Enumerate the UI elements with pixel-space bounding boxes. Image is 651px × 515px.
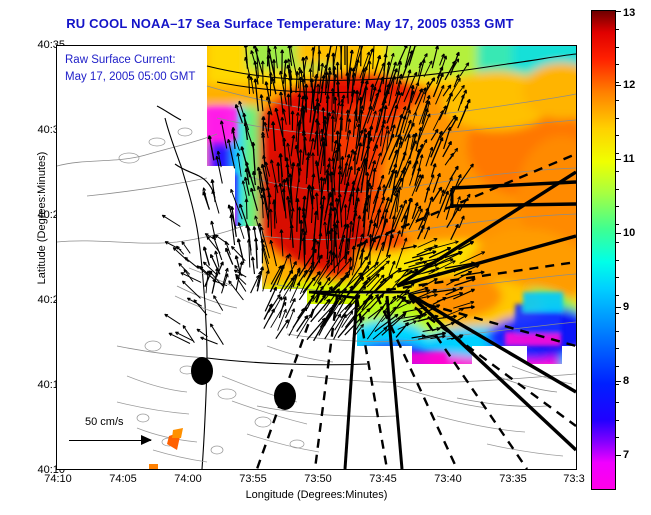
sst-map-canvas	[57, 46, 576, 469]
colorbar-minor-tick	[616, 153, 619, 154]
colorbar-label-4: 9	[623, 301, 629, 313]
colorbar-minor-tick	[616, 420, 619, 421]
x-axis-label: Longitude (Degrees:Minutes)	[56, 489, 577, 501]
velocity-scale-bar: 50 cm/s	[63, 416, 193, 447]
colorbar-minor-tick	[616, 171, 619, 172]
colorbar-tick	[616, 307, 621, 308]
x-tick-label-3: 73:55	[239, 473, 267, 485]
colorbar-label-1: 12	[623, 79, 635, 91]
colorbar-label-2: 11	[623, 153, 635, 165]
colorbar-label-6: 7	[623, 449, 629, 461]
y-axis-label: Latitude (Degrees:Minutes)	[36, 128, 48, 308]
colorbar-minor-tick	[616, 206, 619, 207]
colorbar-minor-tick	[616, 242, 619, 243]
x-tick-label-1: 74:05	[109, 473, 137, 485]
colorbar-minor-tick	[616, 260, 619, 261]
temperature-colorbar[interactable]	[591, 10, 616, 490]
colorbar-minor-tick	[616, 100, 619, 101]
colorbar-tick	[616, 233, 621, 234]
scale-bar-label: 50 cm/s	[85, 416, 193, 428]
colorbar-minor-tick	[616, 189, 619, 190]
colorbar-label-3: 10	[623, 227, 635, 239]
colorbar-minor-tick	[616, 47, 619, 48]
colorbar-tick	[616, 381, 621, 382]
colorbar-tick	[616, 11, 621, 12]
colorbar-minor-tick	[616, 384, 619, 385]
station-marker-east[interactable]	[274, 382, 296, 410]
map-plot-area[interactable]: Raw Surface Current: May 17, 2005 05:00 …	[56, 45, 577, 470]
x-tick-label-4: 73:50	[304, 473, 332, 485]
x-tick-label-2: 74:00	[174, 473, 202, 485]
colorbar-minor-tick	[616, 402, 619, 403]
x-tick-label-5: 73:45	[369, 473, 397, 485]
colorbar-minor-tick	[616, 277, 619, 278]
colorbar-minor-tick	[616, 295, 619, 296]
colorbar-minor-tick	[616, 82, 619, 83]
colorbar-minor-tick	[616, 64, 619, 65]
station-marker-west[interactable]	[191, 357, 213, 385]
colorbar-tick	[616, 85, 621, 86]
colorbar-label-0: 13	[623, 7, 635, 19]
sst-map-figure: RU COOL NOAA–17 Sea Surface Temperature:…	[0, 0, 651, 515]
colorbar-label-5: 8	[623, 375, 629, 387]
arrow-right-icon	[63, 433, 193, 447]
x-tick-label-6: 73:40	[434, 473, 462, 485]
colorbar-minor-tick	[616, 437, 619, 438]
colorbar-tick	[616, 455, 621, 456]
colorbar-minor-tick	[616, 29, 619, 30]
colorbar-minor-tick	[616, 366, 619, 367]
colorbar-minor-tick	[616, 135, 619, 136]
x-tick-label-7: 73:35	[499, 473, 527, 485]
colorbar-minor-tick	[616, 331, 619, 332]
colorbar-tick	[616, 159, 621, 160]
colorbar-minor-tick	[616, 118, 619, 119]
colorbar-minor-tick	[616, 348, 619, 349]
colorbar-minor-tick	[616, 224, 619, 225]
x-tick-label-8: 73:3	[563, 473, 584, 485]
colorbar-minor-tick	[616, 313, 619, 314]
x-tick-label-0: 74:10	[44, 473, 72, 485]
figure-title: RU COOL NOAA–17 Sea Surface Temperature:…	[0, 16, 580, 31]
